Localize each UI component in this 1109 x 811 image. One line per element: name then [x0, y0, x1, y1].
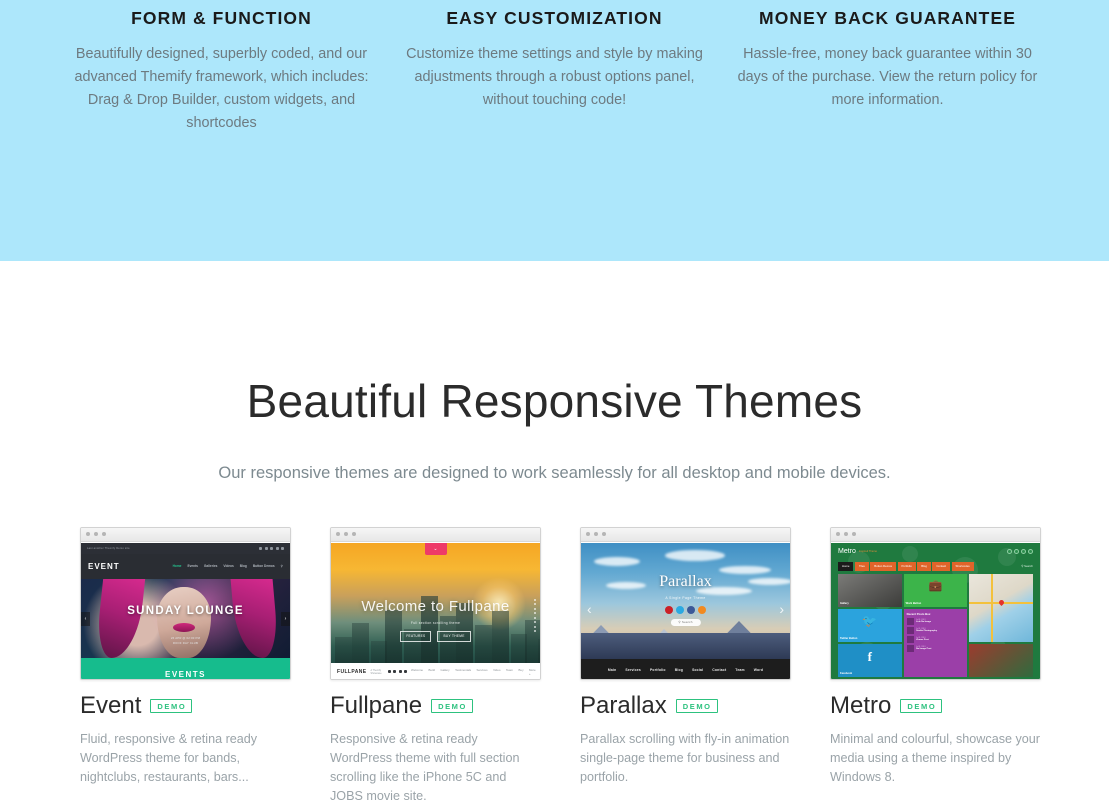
fullpane-social-icons [388, 670, 408, 673]
event-menu-item: Blog [240, 564, 247, 568]
event-menu-item: Galleries [204, 564, 217, 568]
theme-card-header: Event Demo [80, 694, 291, 718]
metro-tile-map[interactable] [969, 574, 1033, 642]
feature-text: Customize theme settings and style by ma… [402, 43, 707, 112]
window-maximize-dot-icon [602, 532, 606, 536]
metro-tile-recent-posts[interactable]: Recent Posts Box Jul 8, 2013 Link No Ima… [904, 609, 968, 677]
metro-tile-gallery[interactable]: Gallery [838, 574, 902, 607]
post-thumbnail [907, 645, 914, 652]
building [352, 623, 369, 663]
hero-hair-right [231, 579, 280, 658]
event-hero-meta-venue: ROOF DAY CLUB [81, 641, 290, 646]
parallax-menu-item: Main [608, 668, 617, 672]
parallax-hero-sub: A Single Page Theme [581, 596, 790, 600]
event-topbar-text: Last another Themify Demo site [87, 547, 130, 550]
slider-next-arrow-icon[interactable]: › [779, 601, 784, 617]
tile-label: Gallery [840, 602, 849, 605]
metro-wrap: Metro Inspired Theme Home Tiles [831, 543, 1040, 679]
section-dot[interactable] [534, 599, 536, 601]
search-icon: ⚲ [281, 564, 283, 568]
post-title: iFrame Post [916, 639, 929, 641]
event-menu-item: Home [173, 564, 182, 568]
fullpane-footer-bar: FULLPANE A Themify Showcase Welcome Buil… [331, 663, 540, 679]
post-thumbnail [907, 618, 914, 625]
event-menu-item: Button Demos [253, 564, 275, 568]
twitter-icon[interactable] [676, 606, 684, 614]
parallax-hero-title: Parallax [581, 573, 790, 591]
post-list-item[interactable]: Jul 8, 2013 iFrame Post [904, 634, 968, 643]
fullpane-menu-item: Testimonials [455, 668, 471, 676]
post-title: Link No Image [916, 621, 931, 623]
tile-label: Work Button [906, 602, 922, 605]
metro-logo: Metro [838, 548, 856, 555]
section-dot[interactable] [534, 608, 536, 610]
event-social-icons [259, 547, 284, 550]
tile-label: Twitter Button [840, 637, 857, 640]
theme-preview-parallax[interactable]: Parallax A Single Page Theme ⚲ Search [580, 527, 791, 680]
facebook-icon: f [868, 649, 872, 667]
theme-card-metro[interactable]: Metro Inspired Theme Home Tiles [830, 527, 1041, 811]
browser-chrome-bar [581, 528, 790, 542]
window-maximize-dot-icon [852, 532, 856, 536]
window-close-dot-icon [836, 532, 840, 536]
section-dot[interactable] [534, 612, 536, 614]
post-list-item[interactable]: Jul 8, 2013 Link No Image [904, 616, 968, 625]
rss-icon [1028, 549, 1033, 554]
buy-theme-button[interactable]: BUY THEME [437, 631, 470, 642]
event-footer-band: EVENTS [81, 658, 290, 679]
metro-menu-item: Home [838, 562, 853, 571]
theme-description: Parallax scrolling with fly-in animation… [580, 730, 791, 787]
theme-title: Metro [830, 694, 891, 718]
post-thumbnail [907, 636, 914, 643]
pinterest-icon [270, 547, 273, 550]
page-subtitle: Our responsive themes are designed to wo… [0, 428, 1109, 483]
window-maximize-dot-icon [102, 532, 106, 536]
fullpane-tagline: A Themify Showcase [371, 669, 382, 675]
feature-title: EASY CUSTOMIZATION [402, 8, 707, 29]
window-maximize-dot-icon [352, 532, 356, 536]
metro-search-label: Search [1024, 564, 1033, 568]
feature-column-easy-customization: EASY CUSTOMIZATION Customize theme setti… [388, 8, 721, 261]
theme-card-header: Parallax Demo [580, 694, 791, 718]
metro-menu-item: Shortcodes [952, 562, 974, 571]
metro-social-icons [1007, 549, 1033, 554]
facebook-icon[interactable] [687, 606, 695, 614]
theme-card-fullpane[interactable]: ⌄ Welcome to Fullpane Full section scrol… [330, 527, 541, 811]
twitter-icon [265, 547, 268, 550]
theme-card-header: Metro Demo [830, 694, 1041, 718]
metro-header: Metro Inspired Theme [831, 543, 1040, 561]
metro-tile-work-button[interactable]: 💼 Work Button [904, 574, 968, 607]
fullpane-menu: Welcome Build Gallery Testimonials Servi… [411, 668, 536, 676]
preview-viewport: ⌄ Welcome to Fullpane Full section scrol… [331, 543, 540, 679]
feature-column-form-function: FORM & FUNCTION Beautifully designed, su… [55, 8, 388, 261]
parallax-menu-item: Social [692, 668, 703, 672]
metro-menu-item: Tiles [855, 562, 869, 571]
post-thumbnail [907, 627, 914, 634]
theme-title: Parallax [580, 694, 667, 718]
metro-tile-facebook[interactable]: f Facebook [838, 644, 902, 677]
metro-search[interactable]: ⚲ Search [1021, 564, 1033, 568]
posts-heading: Recent Posts Box [904, 609, 968, 616]
event-hero-title: SUNDAY LOUNGE [81, 605, 290, 617]
demo-button[interactable]: Demo [676, 699, 718, 714]
map-road-vertical [991, 574, 993, 642]
theme-card-parallax[interactable]: Parallax A Single Page Theme ⚲ Search [580, 527, 791, 811]
metro-tiles: Gallery 💼 Work Button [838, 574, 1033, 679]
window-close-dot-icon [336, 532, 340, 536]
metro-tagline: Inspired Theme [859, 550, 877, 553]
event-menu: Home Events Galleries Videos Blog Button… [173, 564, 283, 568]
post-list-item[interactable]: Jul 8, 2013 No Image Post [904, 643, 968, 652]
parallax-search-field[interactable]: ⚲ Search [670, 619, 700, 626]
parallax-hero-wrap: Parallax A Single Page Theme ⚲ Search [581, 543, 790, 679]
parallax-menu-item: Portfolio [650, 668, 666, 672]
parallax-menu-item: Services [625, 668, 641, 672]
window-close-dot-icon [86, 532, 90, 536]
feature-text: Hassle-free, money back guarantee within… [735, 43, 1040, 112]
section-dot[interactable] [534, 630, 536, 632]
tile-label: Facebook [840, 672, 852, 675]
window-minimize-dot-icon [594, 532, 598, 536]
post-title: No Image Post [916, 648, 931, 650]
hero-cityscape [331, 577, 540, 663]
parallax-menu-item: Word [754, 668, 763, 672]
scroll-down-tab-icon[interactable]: ⌄ [425, 543, 447, 555]
cloud [665, 550, 725, 561]
slider-prev-arrow-icon[interactable]: ‹ [587, 601, 592, 617]
google-plus-icon [1021, 549, 1026, 554]
theme-description: Fluid, responsive & retina ready WordPre… [80, 730, 291, 787]
facebook-icon [393, 670, 396, 673]
search-icon [404, 670, 407, 673]
theme-card-event[interactable]: Last another Themify Demo site EVENT H [80, 527, 291, 811]
slider-prev-arrow-icon[interactable]: ‹ [81, 612, 90, 626]
theme-preview-metro[interactable]: Metro Inspired Theme Home Tiles [830, 527, 1041, 680]
fullpane-hero-sub: Full section scrolling theme [331, 621, 540, 625]
preview-viewport: Parallax A Single Page Theme ⚲ Search [581, 543, 790, 679]
section-dot[interactable] [534, 603, 536, 605]
theme-preview-fullpane[interactable]: ⌄ Welcome to Fullpane Full section scrol… [330, 527, 541, 680]
facebook-icon [1007, 549, 1012, 554]
feature-band: FORM & FUNCTION Beautifully designed, su… [0, 0, 1109, 261]
metro-tile-photo[interactable] [969, 644, 1033, 677]
event-logo: EVENT [88, 562, 120, 571]
instagram-icon [276, 547, 279, 550]
preview-viewport: Last another Themify Demo site EVENT H [81, 543, 290, 679]
window-minimize-dot-icon [844, 532, 848, 536]
parallax-menu-item: Team [735, 668, 744, 672]
event-menu-item: Videos [223, 564, 233, 568]
metro-menu-item: Portfolio [898, 562, 916, 571]
post-meta: Jul 8, 2013 iFrame Post [916, 637, 929, 641]
metro-nav: Home Tiles Button Demos Portfolio Blog C… [831, 561, 1040, 572]
window-minimize-dot-icon [94, 532, 98, 536]
page-title: Beautiful Responsive Themes [0, 261, 1109, 428]
search-placeholder: Search [682, 620, 693, 624]
post-title: Studio Photography [916, 630, 937, 632]
fullpane-hero-title: Welcome to Fullpane [331, 598, 540, 615]
twitter-icon [1014, 549, 1019, 554]
slider-next-arrow-icon[interactable]: › [281, 612, 290, 626]
event-hero: SUNDAY LOUNGE 26 APR @ 02:00 PM ROOF DAY… [81, 579, 290, 658]
theme-preview-event[interactable]: Last another Themify Demo site EVENT H [80, 527, 291, 680]
hero-lips [173, 623, 195, 632]
rss-icon[interactable] [698, 606, 706, 614]
fullpane-menu-item: Gallery [440, 668, 449, 676]
fullpane-menu-item: More + [529, 668, 536, 676]
post-list-item[interactable]: Jul 8, 2013 Studio Photography [904, 625, 968, 634]
parallax-menu-item: Blog [675, 668, 683, 672]
browser-chrome-bar [331, 528, 540, 542]
theme-title: Event [80, 694, 141, 718]
event-topbar: Last another Themify Demo site [81, 543, 290, 554]
feature-title: FORM & FUNCTION [69, 8, 374, 29]
theme-card-header: Fullpane Demo [330, 694, 541, 718]
section-dot[interactable] [534, 626, 536, 628]
bag-icon: 💼 [929, 579, 943, 597]
preview-viewport: Metro Inspired Theme Home Tiles [831, 543, 1040, 679]
feature-title: MONEY BACK GUARANTEE [735, 8, 1040, 29]
section-dot[interactable] [534, 617, 536, 619]
post-meta: Jul 8, 2013 No Image Post [916, 646, 931, 650]
window-minimize-dot-icon [344, 532, 348, 536]
features-button[interactable]: FEATURES [400, 631, 431, 642]
fullpane-menu-item: Video [493, 668, 500, 676]
metro-menu-item: Blog [917, 562, 931, 571]
feature-column-money-back-guarantee: MONEY BACK GUARANTEE Hassle-free, money … [721, 8, 1054, 261]
demo-button[interactable]: Demo [150, 699, 192, 714]
fullpane-hero-wrap: ⌄ Welcome to Fullpane Full section scrol… [331, 543, 540, 679]
rss-icon [281, 547, 284, 550]
parallax-menu-item: Contact [712, 668, 726, 672]
twitter-icon [388, 670, 391, 673]
feature-text: Beautifully designed, superbly coded, an… [69, 43, 374, 135]
fullpane-menu-item: Team [506, 668, 513, 676]
linkedin-icon [399, 670, 402, 673]
fullpane-menu-item: Services [477, 668, 488, 676]
theme-grid: Last another Themify Demo site EVENT H [0, 527, 1109, 811]
mountain-base [581, 633, 790, 659]
building [538, 639, 540, 663]
metro-tile-twitter-button[interactable]: 🐦 Twitter Button [838, 609, 902, 642]
parallax-social-icons[interactable] [581, 606, 790, 614]
section-dot[interactable] [534, 621, 536, 623]
demo-button[interactable]: Demo [900, 699, 942, 714]
metro-menu-item: Button Demos [870, 562, 896, 571]
fullpane-menu-item: Welcome [411, 668, 423, 676]
themes-section: Beautiful Responsive Themes Our responsi… [0, 261, 1109, 811]
event-menu-item: Events [187, 564, 197, 568]
fullpane-logo: FULLPANE [337, 669, 367, 675]
pinterest-icon[interactable] [665, 606, 673, 614]
theme-description: Responsive & retina ready WordPress them… [330, 730, 541, 806]
cloud [594, 557, 640, 566]
parallax-nav: Main Services Portfolio Blog Social Cont… [581, 659, 790, 679]
event-nav: EVENT Home Events Galleries Videos Blog … [81, 554, 290, 579]
twitter-icon: 🐦 [862, 614, 877, 632]
demo-button[interactable]: Demo [431, 699, 473, 714]
post-meta: Jul 8, 2013 Studio Photography [916, 628, 937, 632]
facebook-icon [259, 547, 262, 550]
metro-menu-item: Contact [932, 562, 950, 571]
browser-chrome-bar [81, 528, 290, 542]
fullpane-hero-buttons: FEATURES BUY THEME [331, 631, 540, 642]
fullpane-menu-item: Build [429, 668, 435, 676]
fullpane-menu-item: Buy [519, 668, 524, 676]
post-meta: Jul 8, 2013 Link No Image [916, 619, 931, 623]
hero-hair-left [95, 579, 145, 658]
theme-title: Fullpane [330, 694, 422, 718]
section-dots-nav[interactable] [534, 599, 536, 633]
map-pin-icon [998, 599, 1005, 606]
browser-chrome-bar [831, 528, 1040, 542]
theme-description: Minimal and colourful, showcase your med… [830, 730, 1041, 787]
window-close-dot-icon [586, 532, 590, 536]
event-hero-meta: 26 APR @ 02:00 PM ROOF DAY CLUB [81, 636, 290, 646]
